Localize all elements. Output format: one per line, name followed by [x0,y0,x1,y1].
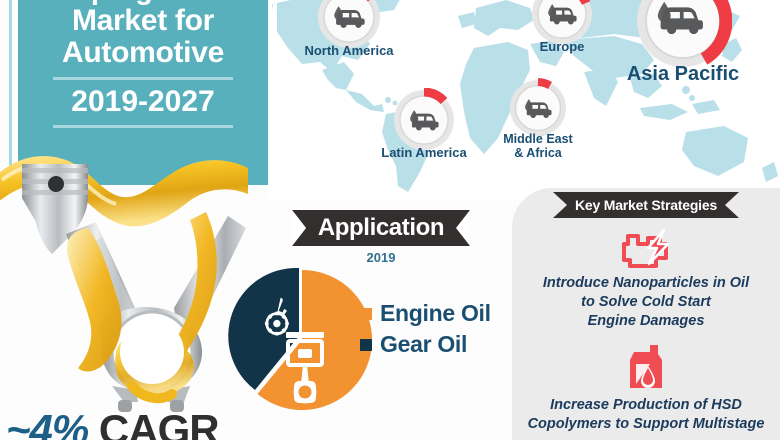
cagr-callout: ~4% CAGR [6,406,406,440]
strategy-item-1: Introduce Nanoparticles in Oil to Solve … [512,228,780,331]
application-year: 2019 [292,250,470,265]
map-marker-label-middle-east-africa-line2: & Africa [514,147,561,160]
asia-pacific-ring [634,0,732,70]
map-marker-label-asia-pacific: Asia Pacific [627,64,739,85]
map-marker-label-north-america: North America [304,44,393,58]
middle-east-africa-ring [508,78,568,138]
cagr-label: CAGR [99,406,219,440]
map-marker-asia-pacific[interactable]: Asia Pacific [634,0,732,70]
piston-oil-svg [0,150,252,435]
strategy-1-line2: to Solve Cold Start [512,293,780,312]
map-marker-north-america[interactable]: North America [316,0,382,50]
oil-canister-icon-svg [624,340,668,392]
application-legend: Engine Oil Gear Oil [360,300,491,362]
piston-oil-illustration [0,150,252,435]
engine-check-icon [512,228,780,270]
page-title-line2: Market for [27,5,259,37]
map-marker-europe[interactable]: Europe [530,0,594,46]
strategy-1-line3: Engine Damages [512,312,780,331]
map-marker-middle-east-africa[interactable]: Middle East & Africa [508,78,568,138]
engine-check-icon-svg [618,228,674,270]
application-banner-label: Application [292,210,470,246]
title-divider-top [53,77,233,80]
legend-item-engine-oil[interactable]: Engine Oil [360,300,491,327]
map-marker-label-europe: Europe [540,40,585,54]
legend-label-engine-oil: Engine Oil [380,300,491,327]
legend-item-gear-oil[interactable]: Gear Oil [360,331,491,358]
infographic-root: North America Latin America [0,0,780,440]
latin-america-ring [392,88,456,152]
key-market-strategies-banner: Key Market Strategies [553,192,739,218]
cagr-value: ~4% [6,406,88,440]
title-panel-inner-rule [273,0,277,185]
strategy-2-line1: Increase Production of HSD [512,396,780,415]
page-title-line3: Automotive [27,37,259,69]
map-marker-label-latin-america: Latin America [381,146,467,160]
legend-swatch-engine-oil [360,308,372,320]
legend-label-gear-oil: Gear Oil [380,331,467,358]
key-market-strategies-label: Key Market Strategies [553,192,739,218]
map-marker-label-middle-east-africa-line1: Middle East [503,133,572,146]
map-marker-latin-america[interactable]: Latin America [392,88,456,152]
application-banner: Application [292,210,470,246]
legend-swatch-gear-oil [360,339,372,351]
strategy-1-line1: Introduce Nanoparticles in Oil [512,274,780,293]
title-divider-bottom [53,125,233,128]
strategy-2-line2: Copolymers to Support Multistage [512,415,780,434]
page-title-years: 2019-2027 [27,86,259,118]
oil-drip-left [67,228,122,371]
oil-canister-icon [512,340,780,392]
strategy-item-2: Increase Production of HSD Copolymers to… [512,340,780,434]
